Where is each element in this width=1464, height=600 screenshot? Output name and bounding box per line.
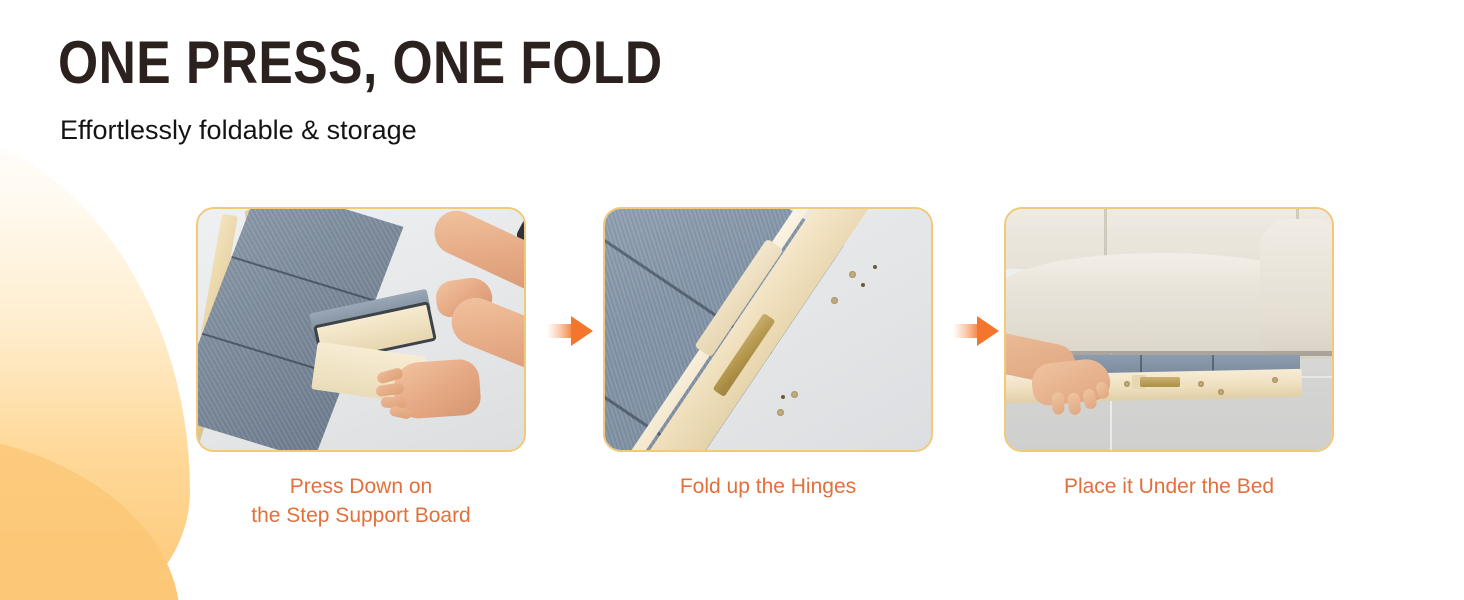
step-2-image-panel bbox=[603, 207, 933, 452]
step-3-photo bbox=[1006, 209, 1332, 450]
adjustment-hole bbox=[873, 265, 877, 269]
step-arrow-1-icon bbox=[547, 316, 593, 346]
step-1-image-panel bbox=[196, 207, 526, 452]
page-subtitle: Effortlessly foldable & storage bbox=[60, 113, 417, 147]
frame-screw bbox=[1272, 377, 1278, 383]
hinge-screw bbox=[777, 409, 784, 416]
step-2-photo bbox=[605, 209, 931, 450]
promo-banner: ONE PRESS, ONE FOLD Effortlessly foldabl… bbox=[0, 0, 1464, 600]
page-title: ONE PRESS, ONE FOLD bbox=[58, 32, 663, 94]
step-1-caption-line1: Press Down on bbox=[290, 475, 432, 498]
hinge-screw bbox=[849, 271, 856, 278]
decorative-corner-swoosh bbox=[0, 120, 190, 600]
step-1-caption: Press Down on the Step Support Board bbox=[196, 472, 526, 530]
adjustment-hole bbox=[781, 395, 785, 399]
frame-screw bbox=[1198, 381, 1204, 387]
step-arrow-2-icon bbox=[953, 316, 999, 346]
sofa-arm bbox=[1260, 219, 1332, 359]
frame-screw bbox=[1218, 389, 1224, 395]
frame-screw bbox=[1124, 381, 1130, 387]
ramp-latch bbox=[1140, 377, 1180, 387]
adjustment-hole bbox=[861, 283, 865, 287]
step-2-caption-line1: Fold up the Hinges bbox=[680, 475, 856, 498]
step-1-photo bbox=[198, 209, 524, 450]
step-3-caption: Place it Under the Bed bbox=[1004, 472, 1334, 501]
step-3-caption-line1: Place it Under the Bed bbox=[1064, 475, 1274, 498]
step-2-caption: Fold up the Hinges bbox=[603, 472, 933, 501]
hinge-screw bbox=[791, 391, 798, 398]
decorative-corner-swoosh-lower bbox=[0, 430, 180, 600]
lower-hand bbox=[392, 358, 482, 420]
hinge-screw bbox=[831, 297, 838, 304]
step-1-caption-line2: the Step Support Board bbox=[196, 501, 526, 530]
step-3-image-panel bbox=[1004, 207, 1334, 452]
